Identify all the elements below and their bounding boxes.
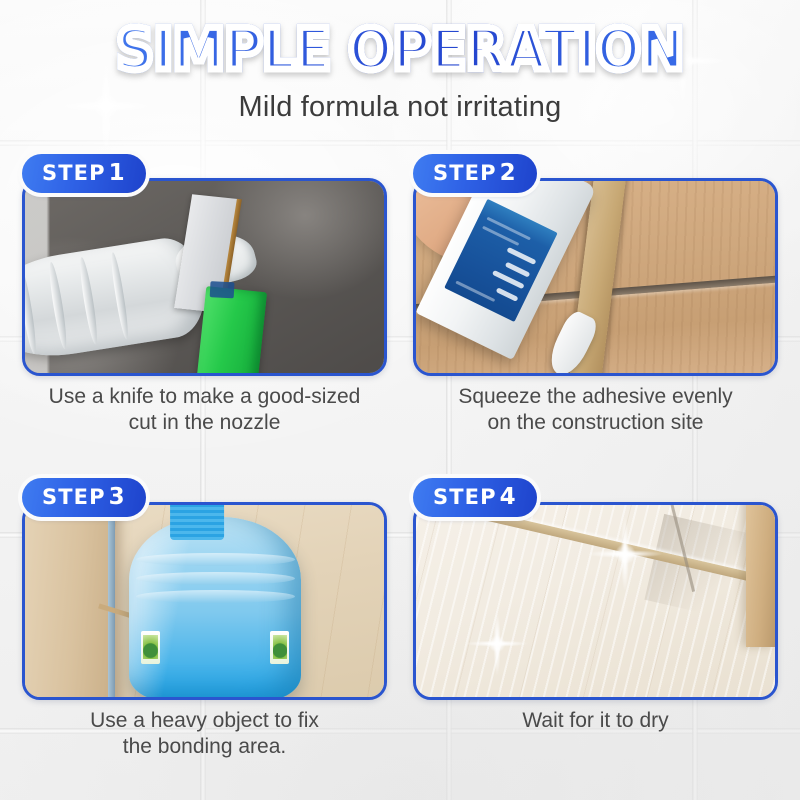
caption-line: Wait for it to dry [405, 708, 786, 734]
step-badge-1: STEP1 [22, 154, 146, 193]
photo-knife-cut-nozzle [25, 181, 384, 373]
photo-heavy-object [25, 505, 384, 697]
step-badge-2: STEP2 [413, 154, 537, 193]
step-card-4: STEP4 Wait for it to dry [405, 476, 786, 792]
step-card-1: STEP1 Use a knife to make a good-sized c… [14, 152, 395, 468]
caption-line: the bonding area. [14, 734, 395, 760]
step-card-2: STEP2 Squeeze the adhes [405, 152, 786, 468]
step-badge-number: 2 [500, 160, 517, 186]
photo-dry-floor [416, 505, 775, 697]
step-badge-label: STEP [42, 485, 106, 509]
wall-panel-shape [25, 502, 115, 700]
step-caption-1: Use a knife to make a good-sized cut in … [14, 384, 395, 437]
step-badge-label: STEP [433, 161, 497, 185]
header: SIMPLE OPERATION Mild formula not irrita… [0, 0, 800, 124]
caption-line: Use a heavy object to fix [14, 708, 395, 734]
wall-trim-shape [746, 502, 775, 647]
caption-line: cut in the nozzle [14, 410, 395, 436]
step-caption-4: Wait for it to dry [405, 708, 786, 734]
caption-line: Squeeze the adhesive evenly [405, 384, 786, 410]
step-badge-3: STEP3 [22, 478, 146, 517]
step-photo-3 [22, 502, 387, 700]
step-badge-label: STEP [433, 485, 497, 509]
step-caption-3: Use a heavy object to fix the bonding ar… [14, 708, 395, 761]
steps-grid: STEP1 Use a knife to make a good-sized c… [0, 152, 800, 792]
step-caption-2: Squeeze the adhesive evenly on the const… [405, 384, 786, 437]
jug-neck-shape [170, 502, 224, 540]
photo-squeeze-adhesive [416, 181, 775, 373]
caption-line: on the construction site [405, 410, 786, 436]
step-photo-2 [413, 178, 778, 376]
step-badge-number: 1 [109, 160, 126, 186]
knife-handle-shape [196, 286, 267, 376]
step-badge-number: 4 [500, 484, 517, 510]
page-subtitle: Mild formula not irritating [0, 91, 800, 124]
step-badge-label: STEP [42, 161, 106, 185]
step-badge-4: STEP4 [413, 478, 537, 517]
page-title: SIMPLE OPERATION [32, 22, 768, 79]
step-badge-number: 3 [109, 484, 126, 510]
water-jug-shape [129, 517, 301, 700]
step-photo-4 [413, 502, 778, 700]
step-card-3: STEP3 Use a heavy object to fix the [14, 476, 395, 792]
step-photo-1 [22, 178, 387, 376]
caption-line: Use a knife to make a good-sized [14, 384, 395, 410]
